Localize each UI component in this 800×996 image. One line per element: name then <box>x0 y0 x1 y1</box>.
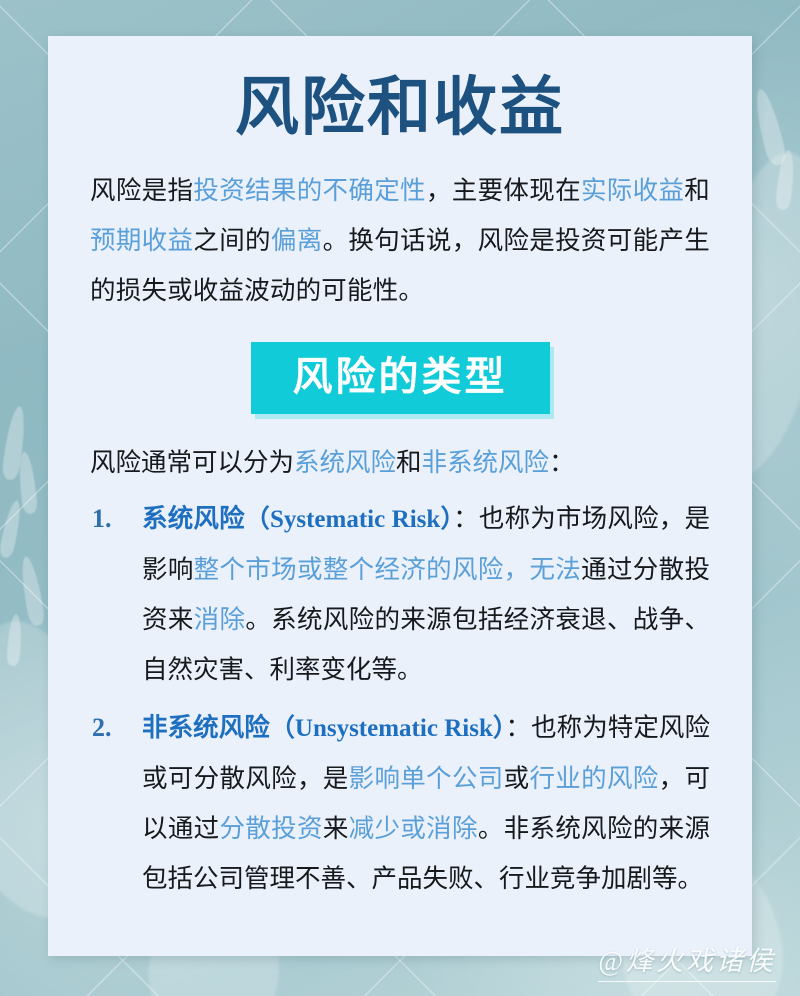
lead-segment: ： <box>549 449 575 477</box>
list-body-segment: 或 <box>504 765 530 793</box>
risk-type-list: 1. 系统风险（Systematic Risk）：也称为市场风险，是影响整个市场… <box>90 494 710 904</box>
list-term-en: （Unsystematic Risk） <box>270 715 506 742</box>
intro-segment-highlight: 投资结果的不确定性 <box>193 177 426 205</box>
intro-segment: 之间的 <box>193 227 271 255</box>
list-term-en: （Systematic Risk） <box>245 506 453 533</box>
list-lead-paragraph: 风险通常可以分为系统风险和非系统风险： <box>90 438 710 488</box>
list-body-segment-highlight: 行业的风险 <box>529 765 658 793</box>
card-inner: 风险和收益 风险是指投资结果的不确定性，主要体现在实际收益和预期收益之间的偏离。… <box>48 36 752 904</box>
list-body-segment-highlight: 分散投资 <box>220 815 323 843</box>
petal-shape <box>18 555 46 627</box>
lead-segment: 和 <box>396 449 422 477</box>
lead-segment-highlight: 非系统风险 <box>422 449 550 477</box>
section-badge-wrapper: 风险的类型 <box>90 342 710 415</box>
poster-page: 风险和收益 风险是指投资结果的不确定性，主要体现在实际收益和预期收益之间的偏离。… <box>0 0 800 996</box>
list-body-segment-highlight: 影响单个公司 <box>349 765 504 793</box>
petal-shape <box>0 499 24 559</box>
intro-paragraph: 风险是指投资结果的不确定性，主要体现在实际收益和预期收益之间的偏离。换句话说，风… <box>90 166 710 316</box>
list-item: 2. 非系统风险（Unsystematic Risk）：也称为特定风险或可分散风… <box>90 703 710 904</box>
petal-shape <box>751 87 788 167</box>
lead-segment-highlight: 系统风险 <box>294 449 396 477</box>
intro-segment-highlight: 预期收益 <box>90 227 193 255</box>
list-body-segment: 来 <box>323 815 349 843</box>
intro-segment: 和 <box>684 177 710 205</box>
watermark: @烽火戏诸侯 <box>598 945 776 982</box>
list-term-cn: 非系统风险 <box>142 714 270 742</box>
lead-segment: 风险通常可以分为 <box>90 449 294 477</box>
list-marker: 2. <box>92 703 112 753</box>
list-body-segment-highlight: 整个市场或整个经济的风险，无法 <box>194 556 581 584</box>
list-body-segment-highlight: 减少或消除 <box>349 815 478 843</box>
section-badge-risk-types: 风险的类型 <box>251 342 550 415</box>
intro-segment: 风险是指 <box>90 177 193 205</box>
petal-shape <box>775 149 796 210</box>
page-title: 风险和收益 <box>90 72 710 144</box>
petal-shape <box>1 405 28 481</box>
content-card: 风险和收益 风险是指投资结果的不确定性，主要体现在实际收益和预期收益之间的偏离。… <box>48 36 752 956</box>
list-marker: 1. <box>92 494 112 544</box>
list-item: 1. 系统风险（Systematic Risk）：也称为市场风险，是影响整个市场… <box>90 494 710 695</box>
list-term-separator: ： <box>506 714 532 742</box>
intro-segment-highlight: 实际收益 <box>581 177 684 205</box>
intro-segment-highlight: 偏离 <box>271 227 323 255</box>
list-term-separator: ： <box>453 505 479 533</box>
list-body-segment-highlight: 消除 <box>194 606 246 634</box>
list-term-cn: 系统风险 <box>142 505 245 533</box>
petal-shape <box>6 614 23 667</box>
intro-segment: ，主要体现在 <box>426 177 581 205</box>
petal-shape <box>17 451 38 514</box>
